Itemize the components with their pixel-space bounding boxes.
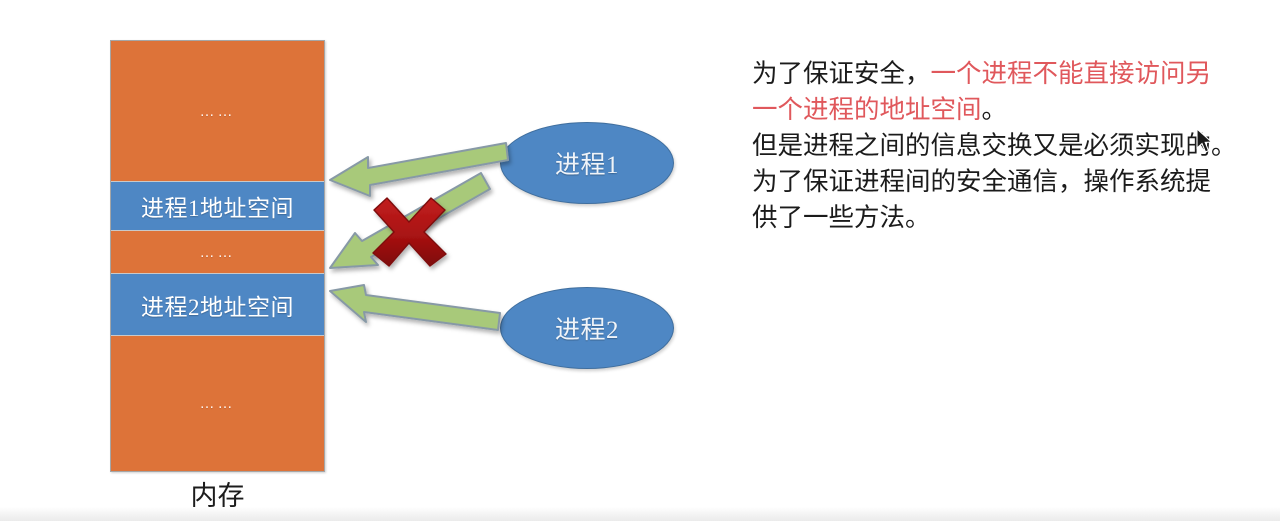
notes-line-1-black: 为了保证安全， [752,59,931,88]
arrow-process1-to-process2-space [330,173,490,268]
process-2-label: 进程2 [555,310,619,346]
memory-band-free-bottom: …… [111,335,324,471]
explanation-notes: 为了保证安全，一个进程不能直接访问另 一个进程的地址空间。 但是进程之间的信息交… [752,56,1262,236]
mouse-pointer-icon [1196,128,1214,154]
notes-line-2-black: 。 [982,95,1008,124]
ellipsis-dots: …… [200,103,236,120]
red-x-mark [373,198,446,266]
notes-line-5: 供了一些方法。 [752,200,1262,236]
process-2-node: 进程2 [500,287,674,369]
notes-line-4: 为了保证进程间的安全通信，操作系统提 [752,164,1262,200]
arrow-process1-to-own-space [330,143,508,196]
memory-band-process2-address-space: 进程2地址空间 [111,273,324,335]
memory-band-free-middle: …… [111,230,324,273]
slide-canvas: …… 进程1地址空间 …… 进程2地址空间 …… 内存 进程1 进程2 [0,0,1280,521]
notes-line-1-red: 一个进程不能直接访问另 [931,59,1212,88]
memory-band-free-top: …… [111,41,324,181]
ellipsis-dots: …… [200,244,236,261]
memory-band-process1-address-space: 进程1地址空间 [111,181,324,230]
ellipsis-dots: …… [200,395,236,412]
memory-band-label: 进程2地址空间 [141,288,294,322]
process-1-label: 进程1 [555,145,619,181]
notes-line-2: 一个进程的地址空间。 [752,92,1262,128]
notes-line-1: 为了保证安全，一个进程不能直接访问另 [752,56,1262,92]
process-1-node: 进程1 [500,122,674,204]
arrow-process2-to-own-space [330,285,500,330]
bottom-edge-fade [0,507,1280,521]
notes-line-2-red: 一个进程的地址空间 [752,95,982,124]
memory-band-label: 进程1地址空间 [141,189,294,223]
memory-column: …… 进程1地址空间 …… 进程2地址空间 …… [110,40,325,472]
notes-line-3: 但是进程之间的信息交换又是必须实现的。 [752,128,1262,164]
